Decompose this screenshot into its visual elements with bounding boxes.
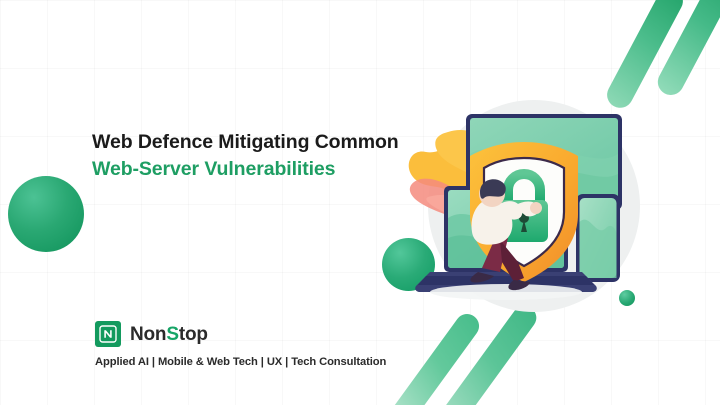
circle-shape-left [8, 176, 84, 252]
smartphone-icon [576, 194, 620, 282]
page-subtitle: Web-Server Vulnerabilities [92, 157, 422, 182]
brand-tagline: Applied AI | Mobile & Web Tech | UX | Te… [95, 356, 386, 368]
web-security-illustration [396, 86, 664, 322]
nonstop-n-logomark-icon [95, 321, 121, 347]
brand-name-part-1: Non [130, 324, 166, 345]
brand-name-part-2: S [166, 324, 178, 345]
diagonal-bar-shape-top-right-2 [653, 0, 720, 100]
diagonal-bar-shape-bottom-left-1 [376, 309, 484, 405]
brand-name: NonStop [130, 325, 208, 344]
logo-row: NonStop [95, 321, 386, 347]
headline-block: Web Defence Mitigating Common Web-Server… [92, 130, 422, 182]
brand-block: NonStop Applied AI | Mobile & Web Tech |… [95, 321, 386, 368]
page-title: Web Defence Mitigating Common [92, 130, 422, 155]
brand-name-part-3: top [179, 324, 208, 345]
slide-canvas: Web Defence Mitigating Common Web-Server… [0, 0, 720, 405]
